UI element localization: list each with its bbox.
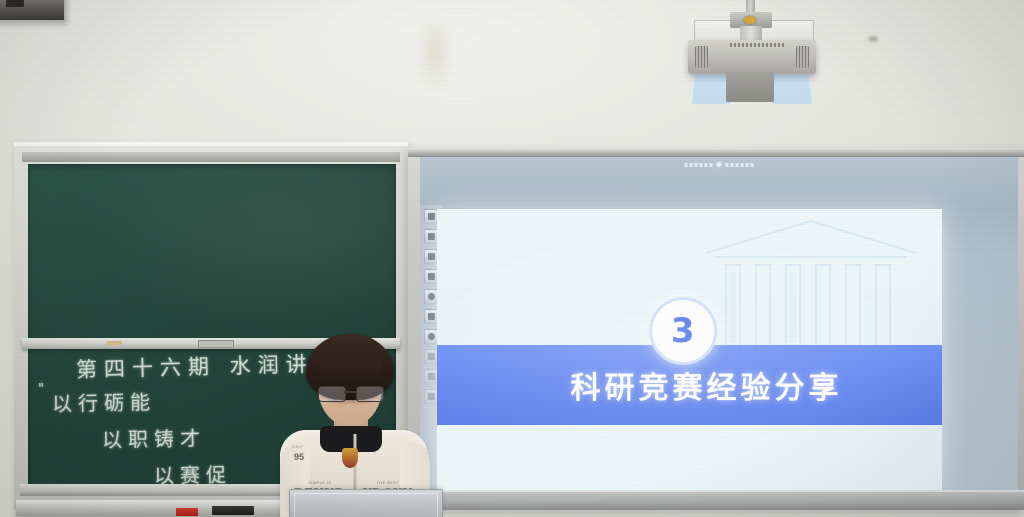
campus-building-watermark-icon <box>686 213 936 363</box>
smart-display[interactable]: 科研竞赛经验分享 3 <box>408 148 1024 510</box>
eyeglasses-bridge <box>344 391 356 393</box>
jacket-number-small: CALF <box>292 444 304 449</box>
lectern-laptop-panel <box>289 489 443 517</box>
classroom-scene: 第四十六期 水润讲坛 " 以行砺能 以职铸才 以赛促 <box>0 0 1024 517</box>
projector-brand-label <box>730 43 784 47</box>
smart-display-top-bezel <box>408 148 1024 157</box>
slide-section-number: 3 <box>649 297 717 365</box>
jacket-crest-patch <box>342 448 358 468</box>
chalk-line-2: 以职铸才 <box>102 422 206 453</box>
smart-display-screen[interactable]: 科研竞赛经验分享 3 <box>420 157 1018 490</box>
brand-text-left <box>685 163 713 167</box>
projector-body <box>688 40 816 74</box>
jacket-number: 95 <box>294 452 304 462</box>
blackboard-eraser <box>212 506 254 515</box>
chalkboard-frame-highlight <box>14 142 408 146</box>
projector-beam-left <box>692 70 730 104</box>
chalkboard-top-rail <box>22 152 400 162</box>
projector-vent-right <box>796 46 809 68</box>
chalk-line-1: 以行砺能 <box>52 386 157 417</box>
wall-spot <box>868 36 878 42</box>
smart-display-brand <box>685 162 754 167</box>
smart-display-bottom-bezel <box>408 490 1024 510</box>
power-indicator-led <box>717 162 722 167</box>
wall-mounted-speaker <box>0 0 66 22</box>
projector-lens-housing <box>726 72 774 102</box>
eyeglasses-icon <box>316 386 386 400</box>
eyeglasses-lens-left <box>318 386 346 402</box>
projector-beam-right <box>772 70 812 104</box>
chalk-box <box>176 508 198 516</box>
eyeglasses-lens-right <box>356 386 384 402</box>
ceiling-projector <box>672 0 832 108</box>
projected-slide: 科研竞赛经验分享 3 <box>437 209 942 490</box>
brand-text-right <box>726 163 754 167</box>
chalk-piece <box>106 341 122 345</box>
projector-vent-left <box>695 46 708 68</box>
wall-smudge <box>418 24 452 88</box>
chalk-quote-mark: " <box>38 382 44 397</box>
